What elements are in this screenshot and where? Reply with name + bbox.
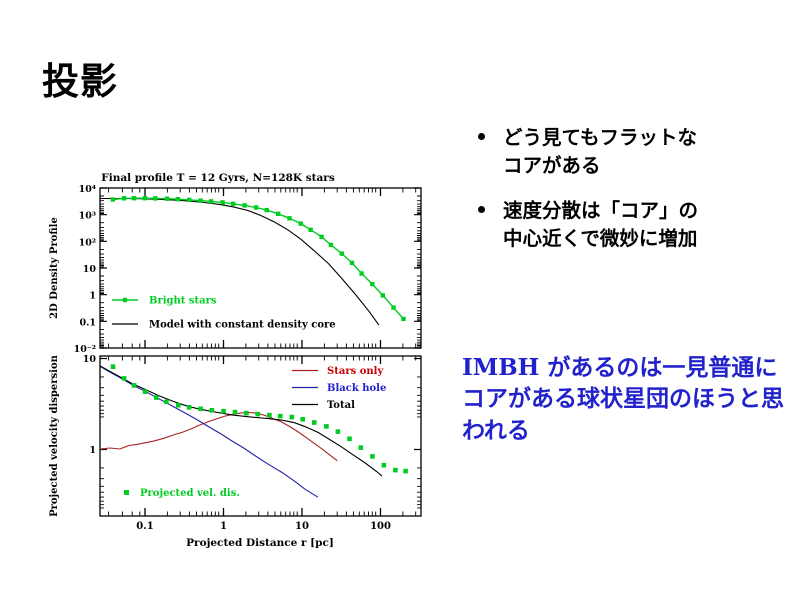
lower-y-ticklabels: 10 1 bbox=[83, 354, 97, 456]
emphasis-statement: IMBH があるのは一見普通にコアがある球状星団のほうと思われる bbox=[462, 352, 800, 447]
lower-legend-item-total: Total bbox=[292, 400, 355, 411]
upper-y-tick-0.1: 0.1 bbox=[79, 317, 96, 328]
legend-label-projected-vel-dis: Projected vel. dis. bbox=[140, 488, 240, 499]
bullet-item-1: どう見てもフラットなコアがある bbox=[478, 124, 798, 179]
lower-legend-item-black-hole: Black hole bbox=[292, 383, 386, 394]
lower-projected-vel-dis-markers bbox=[111, 364, 408, 473]
upper-panel-title: Final profile T = 12 Gyrs, N=128K stars bbox=[101, 172, 335, 184]
upper-legend: Bright stars Model with constant density… bbox=[112, 296, 336, 331]
x-tick-100: 100 bbox=[370, 521, 391, 532]
legend-marker-bright-stars bbox=[123, 298, 127, 302]
bullet-label-1: どう見てもフラットなコアがある bbox=[503, 124, 706, 179]
upper-panel: Final profile T = 12 Gyrs, N=128K stars … bbox=[49, 172, 421, 355]
upper-y-ticklabels: 10⁴ 10³ 10² 10 1 0.1 10⁻² bbox=[74, 184, 97, 355]
lower-y-axis-title: Projected velocity dispersion bbox=[49, 354, 60, 517]
x-tick-0.1: 0.1 bbox=[136, 521, 153, 532]
legend-label-black-hole: Black hole bbox=[327, 383, 386, 394]
upper-model-curve bbox=[100, 199, 379, 325]
bullet-dot-icon bbox=[478, 133, 485, 140]
lower-legend-item-stars-only: Stars only bbox=[292, 366, 384, 377]
upper-legend-item-model: Model with constant density core bbox=[112, 320, 336, 331]
bullet-list: どう見てもフラットなコアがある 速度分散は「コア」の中心近くで微妙に増加 bbox=[478, 124, 798, 271]
x-tick-10: 10 bbox=[295, 521, 309, 532]
upper-y-tick-1e2: 10² bbox=[79, 237, 96, 248]
lower-x-ticklabels: 0.1 1 10 100 bbox=[136, 521, 391, 532]
bullet-dot-icon bbox=[478, 206, 485, 213]
legend-label-bright-stars: Bright stars bbox=[149, 296, 217, 307]
upper-y-axis-title: 2D Density Profile bbox=[49, 217, 60, 319]
two-panel-log-log-figure: Final profile T = 12 Gyrs, N=128K stars … bbox=[40, 168, 440, 562]
legend-label-total: Total bbox=[327, 400, 355, 411]
legend-marker-projected-vel-dis bbox=[124, 490, 129, 495]
upper-y-tick-1e4: 10⁴ bbox=[79, 184, 96, 195]
emphasis-lead: IMBH bbox=[462, 354, 539, 381]
slide: 投影 Final profile T = 12 Gyrs, N=128K sta… bbox=[0, 0, 800, 600]
figure-container: Final profile T = 12 Gyrs, N=128K stars … bbox=[40, 168, 440, 562]
bullet-label-2: 速度分散は「コア」の中心近くで微妙に増加 bbox=[503, 197, 706, 252]
lower-legend: Stars only Black hole Total Projected ve… bbox=[124, 366, 386, 499]
lower-y-tick-1: 1 bbox=[89, 445, 96, 456]
upper-legend-item-bright-stars: Bright stars bbox=[112, 296, 217, 307]
bullet-item-2: 速度分散は「コア」の中心近くで微妙に増加 bbox=[478, 197, 798, 252]
upper-y-tick-1e3: 10³ bbox=[79, 211, 96, 222]
lower-y-tick-10: 10 bbox=[83, 354, 97, 365]
legend-label-model: Model with constant density core bbox=[149, 320, 336, 331]
x-axis-title: Projected Distance r [pc] bbox=[186, 537, 334, 549]
legend-label-stars-only: Stars only bbox=[327, 366, 384, 377]
upper-y-tick-1: 1 bbox=[89, 291, 96, 302]
lower-panel: 10 1 Projected velocity dispersion bbox=[49, 354, 421, 549]
upper-y-tick-10: 10 bbox=[83, 264, 97, 275]
lower-legend-item-projected-vel-dis: Projected vel. dis. bbox=[124, 488, 240, 499]
page-title: 投影 bbox=[42, 62, 118, 103]
x-tick-1: 1 bbox=[220, 521, 227, 532]
lower-y-ticks bbox=[100, 359, 421, 508]
